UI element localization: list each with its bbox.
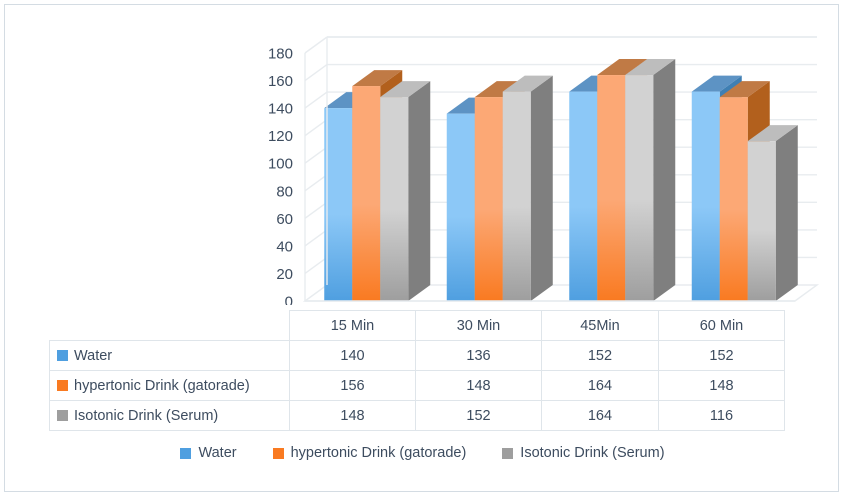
chart-plot-area: 180160140120100806040200 [5, 5, 840, 305]
bar-30Min-2 [503, 76, 553, 301]
table-row-label: hypertonic Drink (gatorade) [50, 371, 290, 401]
legend-color-swatch-icon [273, 448, 284, 459]
svg-text:160: 160 [268, 73, 293, 90]
table-corner-cell [50, 311, 290, 341]
svg-text:60: 60 [276, 211, 293, 228]
bar-15Min-2 [380, 81, 430, 301]
table-col-header: 30 Min [415, 311, 541, 341]
series-label: hypertonic Drink (gatorade) [74, 378, 250, 394]
svg-text:120: 120 [268, 128, 293, 145]
table-cell-value: 140 [290, 341, 416, 371]
table-row: hypertonic Drink (gatorade)156148164148 [50, 371, 785, 401]
data-table: 15 Min30 Min45Min60 MinWater140136152152… [49, 310, 785, 431]
svg-text:80: 80 [276, 183, 293, 200]
table-header-row: 15 Min30 Min45Min60 Min [50, 311, 785, 341]
table-cell-value: 152 [658, 341, 784, 371]
table-cell-value: 148 [290, 401, 416, 431]
y-axis-ticks: 180160140120100806040200 [268, 46, 293, 306]
table-col-header: 15 Min [290, 311, 416, 341]
table-col-header: 45Min [541, 311, 658, 341]
table-row-label: Water [50, 341, 290, 371]
table-cell-value: 116 [658, 401, 784, 431]
table-row-label: Isotonic Drink (Serum) [50, 401, 290, 431]
legend-color-swatch-icon [502, 448, 513, 459]
svg-text:140: 140 [268, 101, 293, 118]
bars-group [324, 59, 798, 301]
table-row: Water140136152152 [50, 341, 785, 371]
legend-item: Isotonic Drink (Serum) [502, 445, 664, 461]
table-cell-value: 164 [541, 371, 658, 401]
table-cell-value: 164 [541, 401, 658, 431]
svg-text:20: 20 [276, 266, 293, 283]
legend-item: hypertonic Drink (gatorade) [273, 445, 467, 461]
legend-label: Water [198, 445, 236, 461]
legend-item: Water [180, 445, 236, 461]
legend-label: hypertonic Drink (gatorade) [291, 445, 467, 461]
table-col-header: 60 Min [658, 311, 784, 341]
legend-color-swatch-icon [180, 448, 191, 459]
legend-label: Isotonic Drink (Serum) [520, 445, 664, 461]
series-color-swatch-icon [57, 350, 68, 361]
table-cell-value: 136 [415, 341, 541, 371]
table-cell-value: 148 [658, 371, 784, 401]
table-cell-value: 156 [290, 371, 416, 401]
svg-text:0: 0 [285, 294, 293, 306]
series-label: Isotonic Drink (Serum) [74, 408, 218, 424]
series-color-swatch-icon [57, 410, 68, 421]
series-color-swatch-icon [57, 380, 68, 391]
bar-60Min-2 [748, 125, 798, 301]
table-cell-value: 152 [541, 341, 658, 371]
bar-45Min-2 [625, 59, 675, 301]
svg-text:100: 100 [268, 156, 293, 173]
chart-legend: Waterhypertonic Drink (gatorade)Isotonic… [5, 445, 840, 461]
table-row: Isotonic Drink (Serum)148152164116 [50, 401, 785, 431]
table-cell-value: 148 [415, 371, 541, 401]
series-label: Water [74, 348, 112, 364]
svg-text:180: 180 [268, 46, 293, 63]
bar-chart-3d: 180160140120100806040200 [5, 5, 840, 305]
svg-text:40: 40 [276, 238, 293, 255]
chart-frame: 180160140120100806040200 15 Min30 Min45M… [4, 4, 839, 492]
table-cell-value: 152 [415, 401, 541, 431]
